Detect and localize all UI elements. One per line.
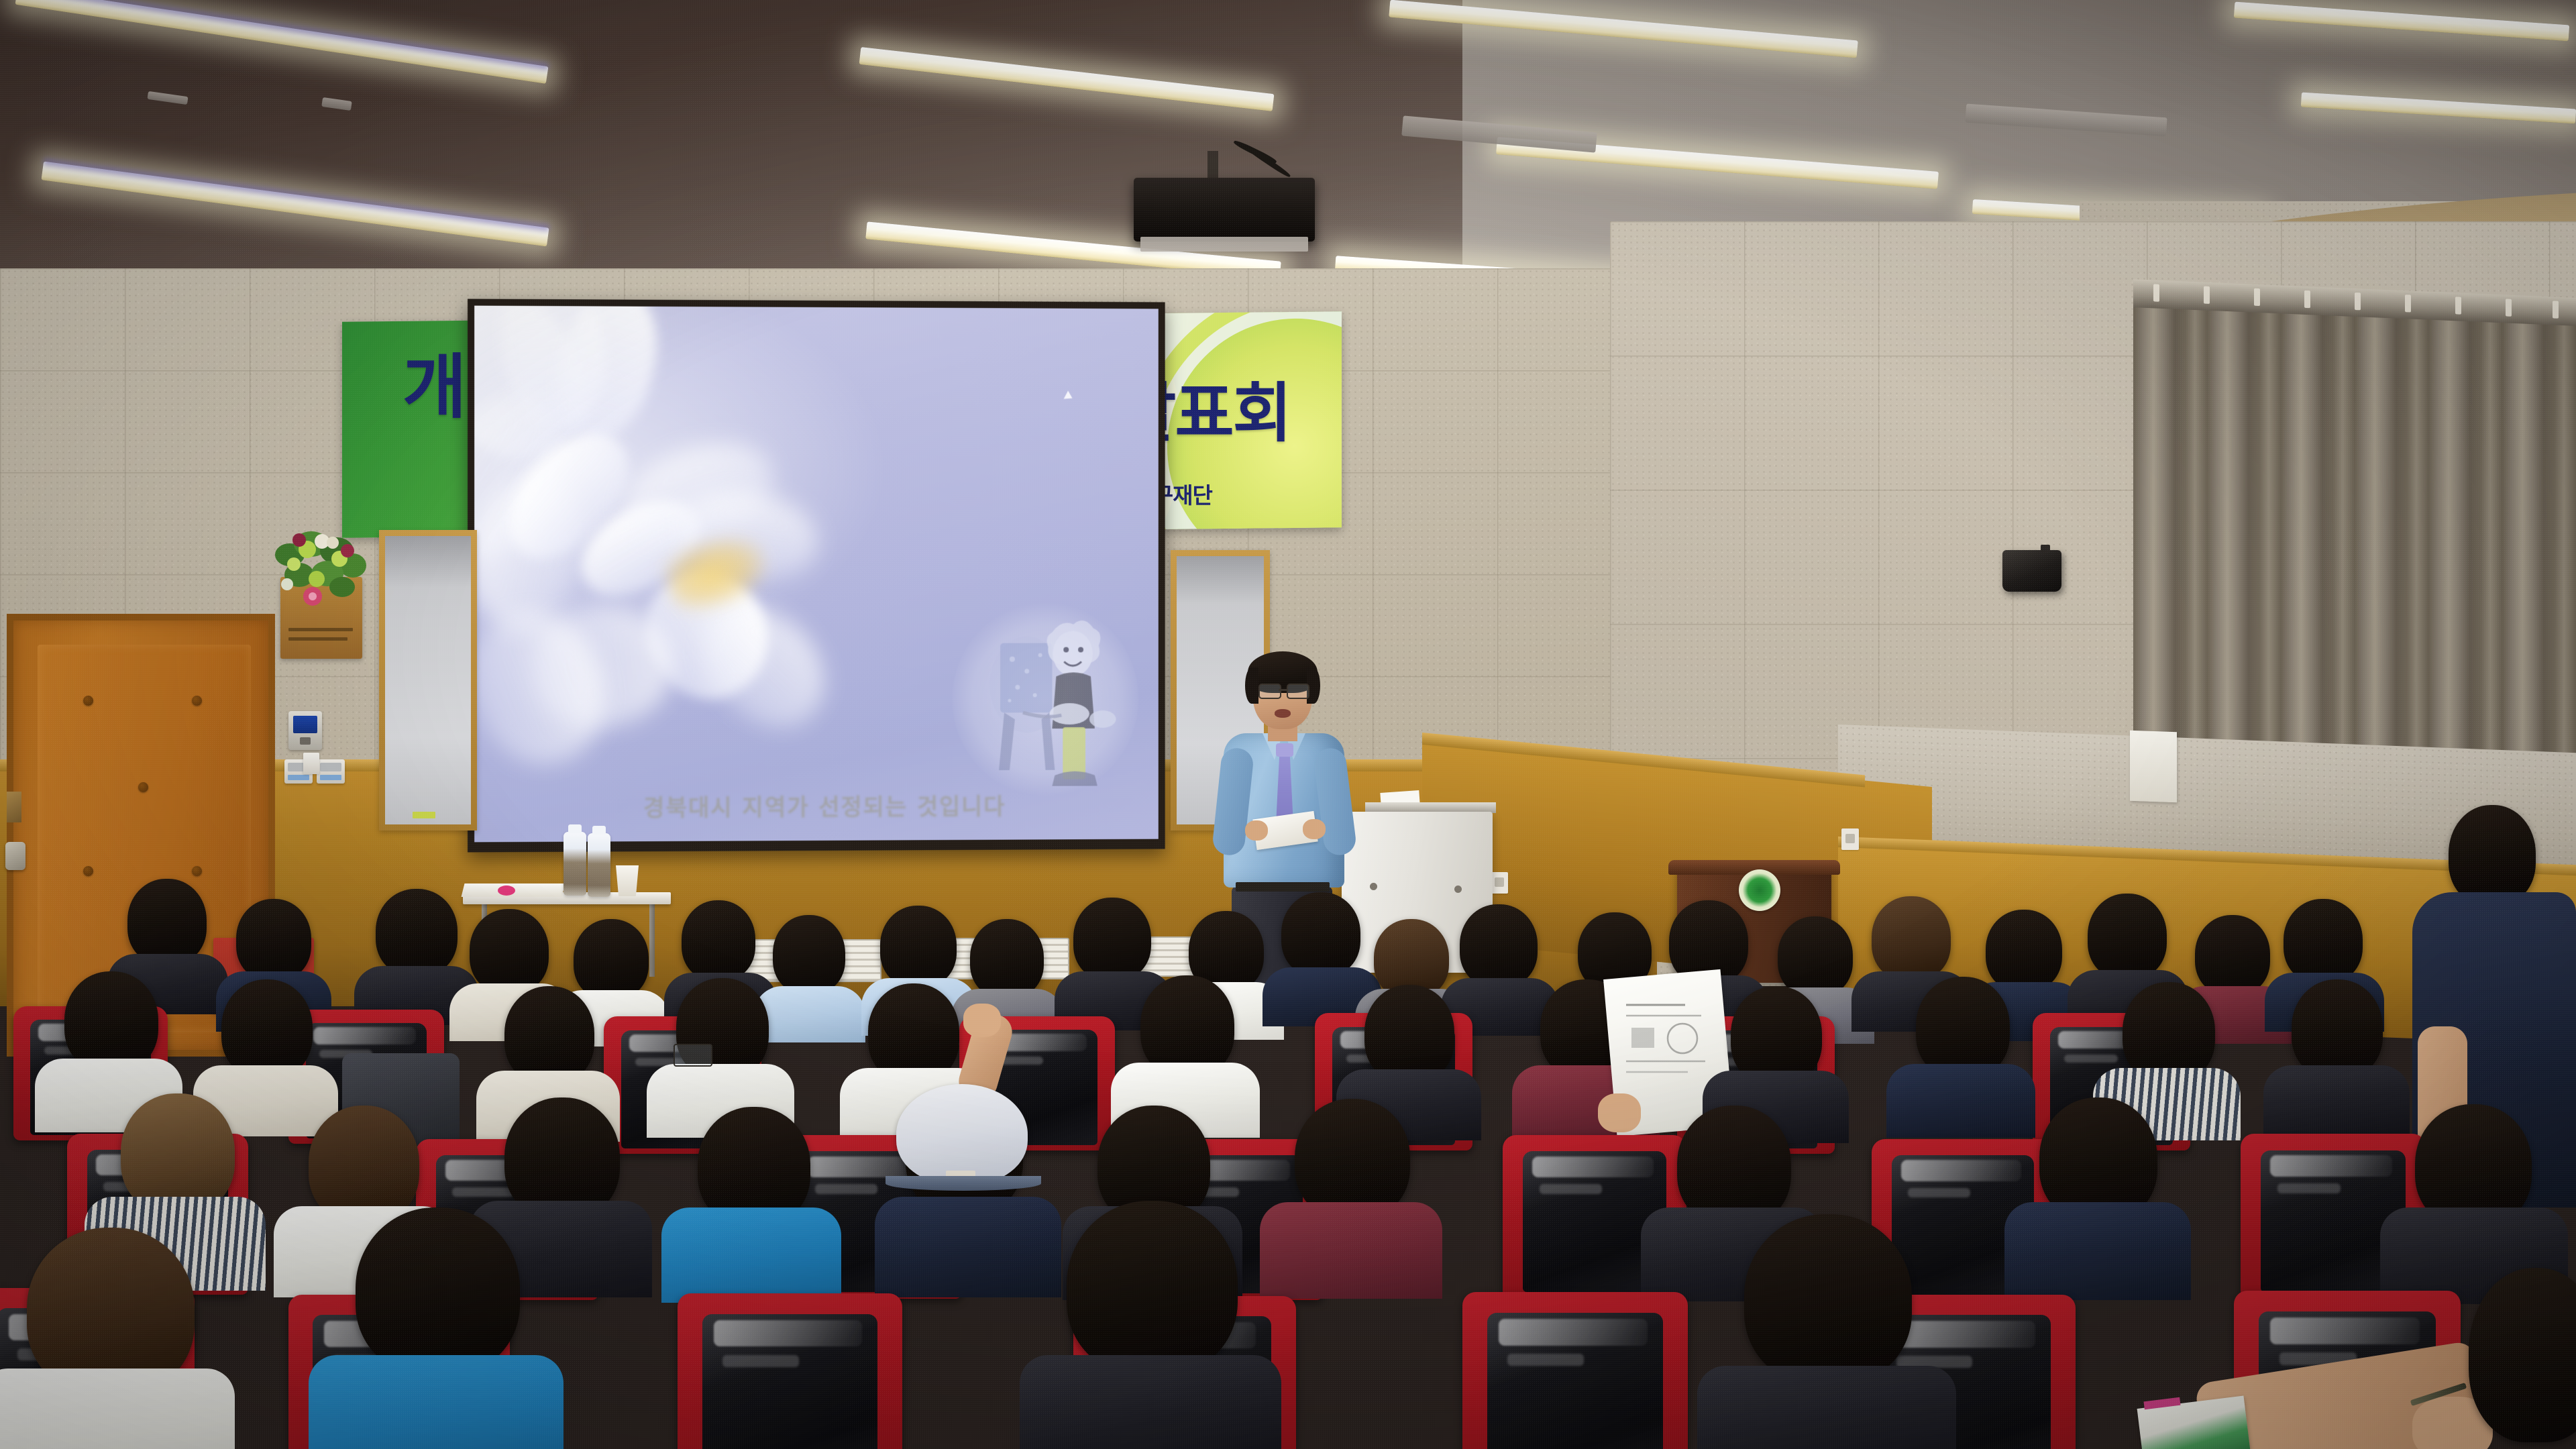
audience-hand	[963, 1004, 1001, 1037]
window-curtain[interactable]	[2133, 279, 2576, 781]
audience-head	[221, 979, 313, 1079]
audience-head	[1460, 904, 1538, 987]
flower-arrangement	[275, 527, 369, 614]
projector	[1134, 178, 1315, 241]
audience-head	[773, 915, 845, 994]
seat	[1462, 1292, 1688, 1449]
handout-content	[1621, 997, 1715, 1084]
window-frame-left	[379, 530, 477, 830]
audience-shoulders	[1697, 1366, 1956, 1449]
audience-shoulders	[754, 986, 865, 1042]
power-outlet-1	[1491, 872, 1508, 894]
audience-head	[2292, 979, 2383, 1079]
audience-hand	[1598, 1093, 1641, 1132]
presenter-belt	[1236, 882, 1330, 892]
audience-head	[574, 919, 649, 1000]
mouse-pointer-icon	[1064, 390, 1075, 402]
seat	[678, 1293, 902, 1449]
audience-head	[376, 889, 458, 976]
audience-head	[121, 1093, 235, 1214]
audience-shoulders	[1886, 1064, 2035, 1138]
projection-screen: 경북대시 지역가 선정되는 것입니다	[474, 306, 1159, 843]
thermostat[interactable]	[303, 753, 319, 774]
audience-head	[880, 906, 957, 987]
standing-person-head	[2449, 805, 2536, 906]
audience-head	[1067, 1201, 1238, 1375]
auditorium-photo: 개 발표회 국연구재단	[0, 0, 2576, 1449]
light-switch-2[interactable]	[317, 759, 345, 784]
access-control-panel[interactable]	[288, 711, 322, 750]
audience-head	[2284, 899, 2363, 983]
audience-head	[356, 1207, 520, 1375]
power-outlet-2	[1841, 828, 1859, 850]
audience-head	[1744, 1214, 1912, 1385]
audience-head	[470, 909, 549, 994]
audience	[0, 892, 2576, 1449]
audience-head	[970, 919, 1044, 998]
audience-head	[1281, 892, 1360, 977]
presenter-hand-right	[1303, 819, 1326, 839]
notice-paper	[2130, 731, 2177, 802]
eyeglasses-icon	[674, 1044, 712, 1067]
presenter-glasses-right	[1287, 684, 1309, 699]
wall-speaker-icon	[2002, 550, 2061, 592]
audience-head	[2088, 894, 2167, 979]
projector-base-plate	[1140, 237, 1308, 252]
audience-shoulders	[2263, 1065, 2410, 1138]
audience-head	[1295, 1099, 1410, 1220]
door-handle[interactable]	[5, 842, 25, 870]
audience-head	[1778, 916, 1853, 997]
access-panel-button[interactable]	[300, 737, 311, 745]
audience-head	[504, 986, 594, 1084]
presenter-glasses-left	[1258, 684, 1281, 699]
audience-shoulders	[309, 1355, 563, 1449]
presenter-mouth	[1275, 709, 1291, 718]
audience-shoulders	[1020, 1355, 1281, 1449]
audience-head	[2195, 915, 2270, 996]
water-bottle-2[interactable]	[588, 833, 610, 897]
audience-head	[127, 879, 207, 965]
slide-caption: 경북대시 지역가 선정되는 것입니다	[535, 788, 1112, 822]
presenter-hand-left	[1245, 820, 1268, 841]
audience-head	[1364, 985, 1454, 1083]
baseball-cap	[896, 1084, 1028, 1185]
audience-head	[236, 899, 311, 981]
audience-head	[1872, 896, 1951, 981]
audience-shoulders	[875, 1197, 1061, 1297]
speaker-bracket	[2041, 545, 2050, 553]
presenter-tie-knot	[1276, 743, 1293, 757]
audience-shoulders	[2004, 1202, 2191, 1300]
audience-head	[682, 900, 755, 981]
cartoon-presenter-icon	[985, 612, 1118, 793]
access-panel-screen	[293, 716, 317, 733]
water-bottle-1[interactable]	[563, 832, 586, 896]
audience-shoulders	[1260, 1202, 1442, 1299]
audience-shoulders	[661, 1207, 841, 1303]
audience-shoulders	[0, 1368, 235, 1449]
audience-head	[1986, 910, 2062, 991]
audience-head	[64, 971, 158, 1072]
audience-head	[1073, 898, 1151, 981]
door-lock-icon[interactable]	[7, 792, 21, 822]
projection-screen-frame: 경북대시 지역가 선정되는 것입니다	[468, 299, 1165, 853]
